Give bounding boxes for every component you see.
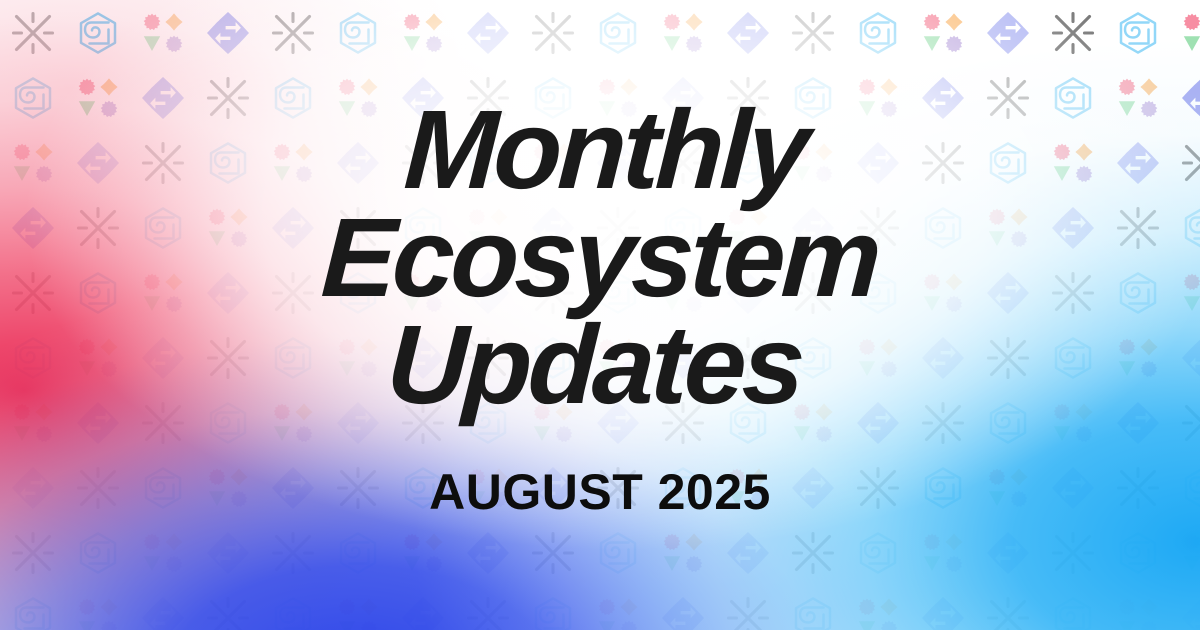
hexagon-swirl-icon xyxy=(75,270,121,316)
hexagon-swirl-icon xyxy=(1050,75,1096,121)
asterisk-burst-icon xyxy=(75,465,121,511)
shapes-quad-icon xyxy=(595,335,641,381)
swap-star-icon xyxy=(400,335,446,381)
asterisk-burst-icon xyxy=(985,335,1031,381)
shapes-quad-icon xyxy=(400,530,446,576)
swap-star-icon xyxy=(790,205,836,251)
swap-star-icon xyxy=(465,530,511,576)
hexagon-swirl-icon xyxy=(920,205,966,251)
asterisk-burst-icon xyxy=(270,530,316,576)
asterisk-burst-icon xyxy=(530,530,576,576)
asterisk-burst-icon xyxy=(530,10,576,56)
hexagon-swirl-icon xyxy=(1115,270,1161,316)
asterisk-burst-icon xyxy=(205,335,251,381)
swap-star-icon xyxy=(75,400,121,446)
shapes-quad-icon xyxy=(400,10,446,56)
shapes-quad-icon xyxy=(465,205,511,251)
shapes-quad-icon xyxy=(660,10,706,56)
hexagon-swirl-icon xyxy=(790,75,836,121)
shapes-quad-icon xyxy=(1180,10,1200,56)
asterisk-burst-icon xyxy=(855,465,901,511)
asterisk-burst-icon xyxy=(10,530,56,576)
swap-star-icon xyxy=(725,270,771,316)
swap-star-icon xyxy=(335,140,381,186)
asterisk-burst-icon xyxy=(1050,530,1096,576)
shapes-quad-icon xyxy=(270,140,316,186)
shapes-quad-icon xyxy=(1050,400,1096,446)
asterisk-burst-icon xyxy=(205,75,251,121)
swap-star-icon xyxy=(530,465,576,511)
shapes-quad-icon xyxy=(595,595,641,630)
hexagon-swirl-icon xyxy=(10,595,56,630)
shapes-quad-icon xyxy=(790,400,836,446)
swap-star-icon xyxy=(140,595,186,630)
shapes-quad-icon xyxy=(855,595,901,630)
shapes-quad-icon xyxy=(400,270,446,316)
hexagon-swirl-icon xyxy=(140,205,186,251)
asterisk-burst-icon xyxy=(855,205,901,251)
shapes-quad-icon xyxy=(140,530,186,576)
shapes-quad-icon xyxy=(205,465,251,511)
shapes-quad-icon xyxy=(1180,530,1200,576)
hexagon-swirl-icon xyxy=(790,335,836,381)
hexagon-swirl-icon xyxy=(530,335,576,381)
shapes-quad-icon xyxy=(725,205,771,251)
shapes-quad-icon xyxy=(75,75,121,121)
shapes-quad-icon xyxy=(205,205,251,251)
hexagon-swirl-icon xyxy=(855,270,901,316)
swap-star-icon xyxy=(985,530,1031,576)
swap-star-icon xyxy=(920,75,966,121)
shapes-quad-icon xyxy=(530,400,576,446)
hexagon-swirl-icon xyxy=(1050,335,1096,381)
hexagon-swirl-icon xyxy=(205,140,251,186)
hexagon-swirl-icon xyxy=(1115,10,1161,56)
shapes-quad-icon xyxy=(465,465,511,511)
asterisk-burst-icon xyxy=(1050,270,1096,316)
swap-star-icon xyxy=(75,140,121,186)
asterisk-burst-icon xyxy=(270,10,316,56)
hexagon-swirl-icon xyxy=(400,465,446,511)
asterisk-burst-icon xyxy=(725,75,771,121)
hexagon-swirl-icon xyxy=(790,595,836,630)
asterisk-burst-icon xyxy=(1115,465,1161,511)
asterisk-burst-icon xyxy=(920,140,966,186)
asterisk-burst-icon xyxy=(335,205,381,251)
hexagon-swirl-icon xyxy=(1050,595,1096,630)
shapes-quad-icon xyxy=(140,10,186,56)
asterisk-burst-icon xyxy=(10,270,56,316)
asterisk-burst-icon xyxy=(660,400,706,446)
shapes-quad-icon xyxy=(335,335,381,381)
swap-star-icon xyxy=(205,10,251,56)
swap-star-icon xyxy=(335,400,381,446)
shapes-quad-icon xyxy=(10,140,56,186)
hexagon-swirl-icon xyxy=(595,270,641,316)
asterisk-burst-icon xyxy=(1180,400,1200,446)
hexagon-swirl-icon xyxy=(270,335,316,381)
hexagon-swirl-icon xyxy=(75,10,121,56)
asterisk-burst-icon xyxy=(465,595,511,630)
swap-star-icon xyxy=(465,10,511,56)
hexagon-swirl-icon xyxy=(465,140,511,186)
hexagon-swirl-icon xyxy=(10,335,56,381)
hexagon-swirl-icon xyxy=(660,465,706,511)
asterisk-burst-icon xyxy=(400,400,446,446)
asterisk-burst-icon xyxy=(920,400,966,446)
swap-star-icon xyxy=(920,595,966,630)
swap-star-icon xyxy=(10,205,56,251)
swap-star-icon xyxy=(595,400,641,446)
hexagon-swirl-icon xyxy=(10,75,56,121)
swap-star-icon xyxy=(855,140,901,186)
shapes-quad-icon xyxy=(1050,140,1096,186)
swap-star-icon xyxy=(920,335,966,381)
shapes-quad-icon xyxy=(985,205,1031,251)
swap-star-icon xyxy=(660,335,706,381)
hexagon-swirl-icon xyxy=(1180,465,1200,511)
asterisk-burst-icon xyxy=(140,400,186,446)
swap-star-icon xyxy=(140,335,186,381)
shapes-quad-icon xyxy=(1115,75,1161,121)
asterisk-burst-icon xyxy=(140,140,186,186)
shapes-quad-icon xyxy=(335,75,381,121)
hexagon-swirl-icon xyxy=(1180,205,1200,251)
hexagon-swirl-icon xyxy=(530,595,576,630)
swap-star-icon xyxy=(725,530,771,576)
swap-star-icon xyxy=(1115,140,1161,186)
swap-star-icon xyxy=(595,140,641,186)
shapes-quad-icon xyxy=(920,270,966,316)
swap-star-icon xyxy=(205,270,251,316)
asterisk-burst-icon xyxy=(270,270,316,316)
shapes-quad-icon xyxy=(660,530,706,576)
shapes-quad-icon xyxy=(595,75,641,121)
hexagon-swirl-icon xyxy=(660,205,706,251)
shapes-quad-icon xyxy=(140,270,186,316)
shapes-quad-icon xyxy=(855,75,901,121)
swap-star-icon xyxy=(400,595,446,630)
asterisk-burst-icon xyxy=(465,75,511,121)
hexagon-swirl-icon xyxy=(725,140,771,186)
asterisk-burst-icon xyxy=(1115,205,1161,251)
asterisk-burst-icon xyxy=(205,595,251,630)
swap-star-icon xyxy=(270,205,316,251)
hexagon-swirl-icon xyxy=(335,10,381,56)
shapes-quad-icon xyxy=(1115,595,1161,630)
hexagon-swirl-icon xyxy=(530,75,576,121)
asterisk-burst-icon xyxy=(10,10,56,56)
swap-star-icon xyxy=(855,400,901,446)
swap-star-icon xyxy=(660,75,706,121)
asterisk-burst-icon xyxy=(725,335,771,381)
shapes-quad-icon xyxy=(660,270,706,316)
asterisk-burst-icon xyxy=(725,595,771,630)
hexagon-swirl-icon xyxy=(595,10,641,56)
asterisk-burst-icon xyxy=(985,75,1031,121)
swap-star-icon xyxy=(10,465,56,511)
hexagon-swirl-icon xyxy=(270,75,316,121)
shapes-quad-icon xyxy=(855,335,901,381)
swap-star-icon xyxy=(1050,465,1096,511)
hexagon-swirl-icon xyxy=(595,530,641,576)
shapes-quad-icon xyxy=(75,595,121,630)
shapes-quad-icon xyxy=(270,400,316,446)
hexagon-swirl-icon xyxy=(855,10,901,56)
hexagon-swirl-icon xyxy=(140,465,186,511)
hexagon-swirl-icon xyxy=(920,465,966,511)
shapes-quad-icon xyxy=(920,10,966,56)
asterisk-burst-icon xyxy=(660,140,706,186)
asterisk-burst-icon xyxy=(335,465,381,511)
swap-star-icon xyxy=(985,270,1031,316)
hexagon-swirl-icon xyxy=(335,270,381,316)
asterisk-burst-icon xyxy=(1180,140,1200,186)
shapes-quad-icon xyxy=(790,140,836,186)
hexagon-swirl-icon xyxy=(725,400,771,446)
asterisk-burst-icon xyxy=(595,465,641,511)
asterisk-burst-icon xyxy=(790,270,836,316)
shapes-quad-icon xyxy=(530,140,576,186)
hexagon-swirl-icon xyxy=(465,400,511,446)
swap-star-icon xyxy=(270,465,316,511)
swap-star-icon xyxy=(660,595,706,630)
hexagon-swirl-icon xyxy=(400,205,446,251)
swap-star-icon xyxy=(400,75,446,121)
asterisk-burst-icon xyxy=(985,595,1031,630)
shapes-quad-icon xyxy=(1180,270,1200,316)
shapes-quad-icon xyxy=(75,335,121,381)
swap-star-icon xyxy=(985,10,1031,56)
shapes-quad-icon xyxy=(10,400,56,446)
hexagon-swirl-icon xyxy=(1115,530,1161,576)
asterisk-burst-icon xyxy=(595,205,641,251)
swap-star-icon xyxy=(465,270,511,316)
swap-star-icon xyxy=(790,465,836,511)
asterisk-burst-icon xyxy=(790,530,836,576)
asterisk-burst-icon xyxy=(465,335,511,381)
swap-star-icon xyxy=(140,75,186,121)
swap-star-icon xyxy=(1050,205,1096,251)
icon-pattern-background xyxy=(0,0,1200,630)
swap-star-icon xyxy=(725,10,771,56)
shapes-quad-icon xyxy=(985,465,1031,511)
swap-star-icon xyxy=(1180,595,1200,630)
hexagon-swirl-icon xyxy=(335,530,381,576)
asterisk-burst-icon xyxy=(400,140,446,186)
hexagon-swirl-icon xyxy=(270,595,316,630)
swap-star-icon xyxy=(205,530,251,576)
shapes-quad-icon xyxy=(725,465,771,511)
hexagon-swirl-icon xyxy=(985,400,1031,446)
shapes-quad-icon xyxy=(335,595,381,630)
asterisk-burst-icon xyxy=(530,270,576,316)
asterisk-burst-icon xyxy=(75,205,121,251)
hexagon-swirl-icon xyxy=(985,140,1031,186)
swap-star-icon xyxy=(1180,75,1200,121)
swap-star-icon xyxy=(530,205,576,251)
asterisk-burst-icon xyxy=(790,10,836,56)
hexagon-swirl-icon xyxy=(205,400,251,446)
hexagon-swirl-icon xyxy=(75,530,121,576)
asterisk-burst-icon xyxy=(1050,10,1096,56)
swap-star-icon xyxy=(1115,400,1161,446)
monthly-ecosystem-updates-banner: Monthly Ecosystem Updates AUGUST 2025 xyxy=(0,0,1200,630)
hexagon-swirl-icon xyxy=(855,530,901,576)
shapes-quad-icon xyxy=(920,530,966,576)
swap-star-icon xyxy=(1180,335,1200,381)
shapes-quad-icon xyxy=(1115,335,1161,381)
